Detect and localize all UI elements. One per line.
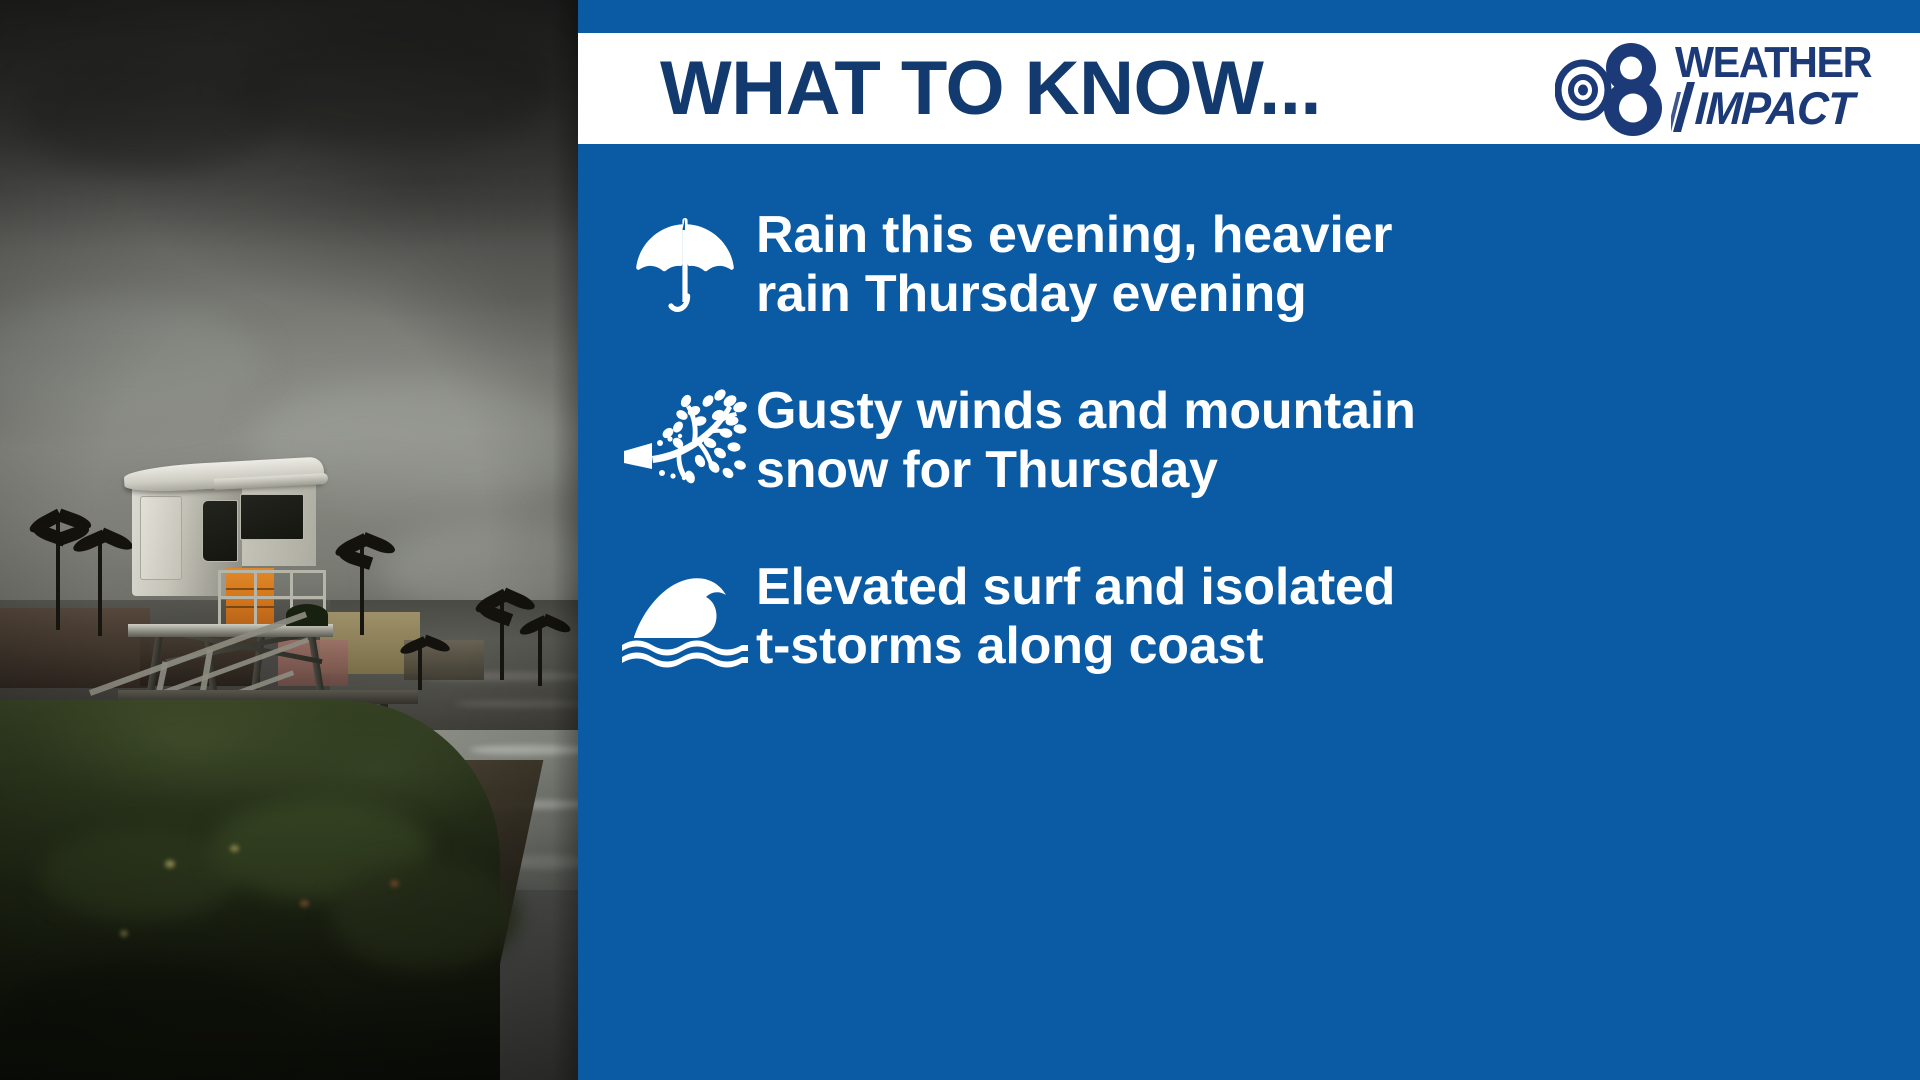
tower-window bbox=[240, 494, 304, 540]
tower-window bbox=[202, 500, 238, 562]
tower-railing bbox=[218, 596, 326, 599]
wave-surf-icon bbox=[614, 552, 756, 682]
header-bar: WHAT TO KNOW... WEATHER bbox=[578, 33, 1920, 144]
tower-panel-seam bbox=[226, 588, 274, 590]
logo-wordmark: WEATHER IMPACT bbox=[1675, 45, 1884, 132]
list-item-text: Elevated surf and isolated t-storms alon… bbox=[756, 552, 1395, 676]
weather-impact-logo: WEATHER IMPACT bbox=[1555, 36, 1884, 141]
list-item-line1: Elevated surf and isolated bbox=[756, 558, 1395, 617]
storm-coast-photo bbox=[0, 0, 578, 1080]
ice-plant-bloom bbox=[230, 845, 239, 852]
what-to-know-list: Rain this evening, heavier rain Thursday… bbox=[578, 144, 1920, 1080]
wind-blown-tree-icon bbox=[614, 376, 756, 506]
list-item-line2: snow for Thursday bbox=[756, 441, 1416, 500]
list-item-line2: t-storms along coast bbox=[756, 617, 1395, 676]
logo-weather-text: WEATHER bbox=[1675, 45, 1871, 82]
list-item-text: Rain this evening, heavier rain Thursday… bbox=[756, 200, 1392, 324]
ice-plant-bloom bbox=[165, 860, 175, 868]
ice-plant-bloom bbox=[120, 930, 128, 937]
ice-plant-clump bbox=[0, 960, 300, 1080]
ice-plant-bloom bbox=[390, 880, 399, 887]
tower-railing-post bbox=[254, 570, 257, 626]
palm-tree bbox=[98, 540, 102, 636]
surf-line bbox=[470, 745, 578, 755]
tower-door bbox=[140, 496, 182, 580]
list-item-line1: Gusty winds and mountain bbox=[756, 382, 1416, 441]
cbs-eye-8-logo-icon bbox=[1555, 36, 1673, 141]
tower-panel-seam bbox=[226, 606, 274, 608]
list-item-line2: rain Thursday evening bbox=[756, 265, 1392, 324]
page-title: WHAT TO KNOW... bbox=[660, 51, 1321, 127]
tower-railing bbox=[218, 570, 326, 573]
umbrella-icon bbox=[614, 200, 756, 330]
list-item: Elevated surf and isolated t-storms alon… bbox=[578, 552, 1920, 682]
list-item: Rain this evening, heavier rain Thursday… bbox=[578, 200, 1920, 330]
cloud-wisp bbox=[230, 20, 560, 150]
palm-tree bbox=[418, 644, 422, 690]
list-item-text: Gusty winds and mountain snow for Thursd… bbox=[756, 376, 1416, 500]
list-item: Gusty winds and mountain snow for Thursd… bbox=[578, 376, 1920, 506]
logo-impact-text: IMPACT bbox=[1694, 89, 1854, 128]
tower-railing-post bbox=[218, 570, 221, 626]
palm-tree bbox=[538, 624, 542, 686]
weather-graphic-slide: WHAT TO KNOW... WEATHER bbox=[0, 0, 1920, 1080]
ice-plant-bloom bbox=[300, 900, 309, 907]
list-item-line1: Rain this evening, heavier bbox=[756, 206, 1392, 265]
ice-plant-clump bbox=[330, 860, 520, 970]
